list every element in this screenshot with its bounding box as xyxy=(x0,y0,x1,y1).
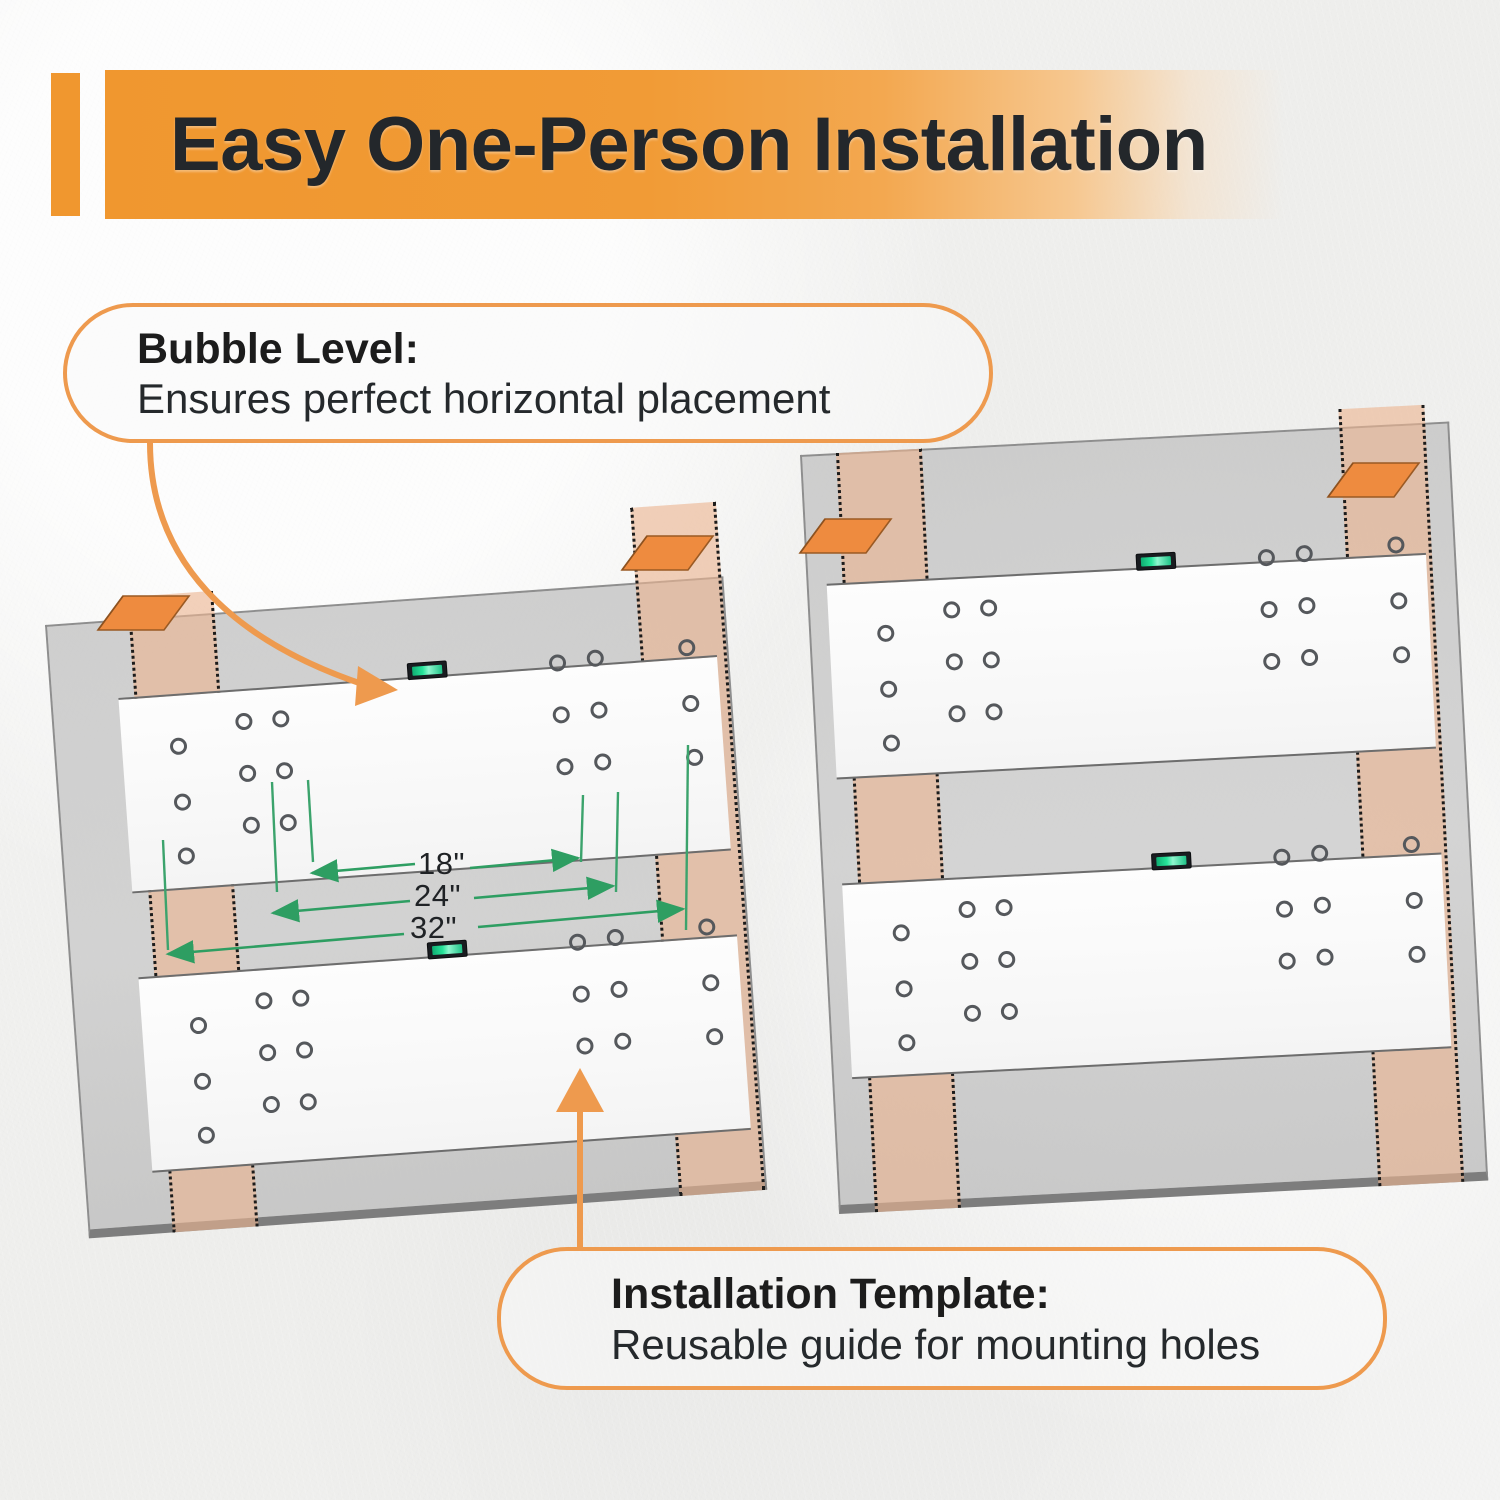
mounting-hole xyxy=(586,649,604,667)
mounting-hole xyxy=(279,814,297,832)
bubble-level-indicator xyxy=(1151,851,1192,870)
mounting-hole xyxy=(1301,649,1319,667)
bubble-level-indicator xyxy=(1136,552,1177,571)
mounting-hole xyxy=(568,933,586,951)
wall-panel-left xyxy=(45,576,767,1238)
mounting-hole xyxy=(1390,592,1408,610)
mounting-hole xyxy=(945,653,963,671)
mounting-hole xyxy=(556,758,574,776)
mounting-hole xyxy=(177,847,195,865)
mounting-hole xyxy=(239,764,257,782)
mounting-hole xyxy=(706,1028,724,1046)
callout-installation-template-subtitle: Reusable guide for mounting holes xyxy=(611,1321,1260,1369)
mounting-hole xyxy=(299,1093,317,1111)
mounting-hole xyxy=(242,816,260,834)
dimension-label-32: 32" xyxy=(410,910,457,946)
mounting-hole xyxy=(892,924,910,942)
mounting-hole xyxy=(173,793,191,811)
stud-cap-marker xyxy=(93,590,193,636)
mounting-hole xyxy=(980,599,998,617)
bubble-level-indicator xyxy=(407,660,448,680)
mounting-hole xyxy=(1263,653,1281,671)
mounting-hole xyxy=(1260,601,1278,619)
callout-bubble-level: Bubble Level: Ensures perfect horizontal… xyxy=(63,303,993,443)
stud-cap-marker xyxy=(795,513,895,559)
mounting-hole xyxy=(958,901,976,919)
mounting-hole xyxy=(1276,900,1294,918)
mounting-hole xyxy=(961,953,979,971)
mounting-hole xyxy=(964,1004,982,1022)
mounting-hole xyxy=(295,1041,313,1059)
mounting-hole xyxy=(1316,948,1334,966)
mounting-hole xyxy=(1257,549,1275,567)
page-title: Easy One-Person Installation xyxy=(170,92,1270,197)
mounting-hole xyxy=(898,1034,916,1052)
dimension-label-18: 18" xyxy=(418,846,465,882)
mounting-hole xyxy=(998,951,1016,969)
mounting-hole xyxy=(193,1072,211,1090)
mounting-hole xyxy=(1298,597,1316,615)
mounting-hole xyxy=(895,980,913,998)
mounting-hole xyxy=(548,654,566,672)
mounting-hole xyxy=(877,624,895,642)
wall-panel-right xyxy=(800,422,1488,1214)
mounting-hole xyxy=(552,706,570,724)
mounting-hole xyxy=(1311,844,1329,862)
mounting-hole xyxy=(292,989,310,1007)
installation-template-strip xyxy=(842,853,1451,1080)
stud-cap-marker xyxy=(1323,457,1423,503)
installation-template-strip xyxy=(827,553,1436,780)
mounting-hole xyxy=(883,734,901,752)
mounting-hole xyxy=(614,1032,632,1050)
callout-bubble-level-subtitle: Ensures perfect horizontal placement xyxy=(137,375,830,423)
mounting-hole xyxy=(943,601,961,619)
callout-installation-template-title: Installation Template: xyxy=(611,1270,1050,1319)
mounting-hole xyxy=(1278,952,1296,970)
mounting-hole xyxy=(610,980,628,998)
mounting-hole xyxy=(985,703,1003,721)
mounting-hole xyxy=(686,748,704,766)
mounting-hole xyxy=(189,1016,207,1034)
mounting-hole xyxy=(576,1037,594,1055)
mounting-hole xyxy=(606,928,624,946)
mounting-hole xyxy=(995,899,1013,917)
mounting-hole xyxy=(682,694,700,712)
mounting-hole xyxy=(1273,848,1291,866)
mounting-hole xyxy=(1393,646,1411,664)
mounting-hole xyxy=(1313,896,1331,914)
mounting-hole xyxy=(272,710,290,728)
callout-bubble-level-title: Bubble Level: xyxy=(137,325,419,374)
mounting-hole xyxy=(255,992,273,1010)
header-accent-bar xyxy=(51,73,80,216)
mounting-hole xyxy=(702,974,720,992)
mounting-hole xyxy=(590,701,608,719)
mounting-hole xyxy=(572,985,590,1003)
mounting-hole xyxy=(1295,545,1313,563)
mounting-hole xyxy=(275,762,293,780)
mounting-hole xyxy=(169,737,187,755)
callout-installation-template: Installation Template: Reusable guide fo… xyxy=(497,1247,1387,1390)
mounting-hole xyxy=(1405,892,1423,910)
mounting-hole xyxy=(235,712,253,730)
mounting-hole xyxy=(1000,1003,1018,1021)
stud-cap-marker xyxy=(617,530,717,576)
dimension-label-24: 24" xyxy=(414,878,461,914)
mounting-hole xyxy=(880,680,898,698)
mounting-hole xyxy=(594,753,612,771)
mounting-hole xyxy=(262,1095,280,1113)
mounting-hole xyxy=(982,651,1000,669)
mounting-hole xyxy=(197,1126,215,1144)
mounting-hole xyxy=(948,705,966,723)
header: Easy One-Person Installation xyxy=(0,0,1500,240)
mounting-hole xyxy=(259,1044,277,1062)
mounting-hole xyxy=(1408,945,1426,963)
